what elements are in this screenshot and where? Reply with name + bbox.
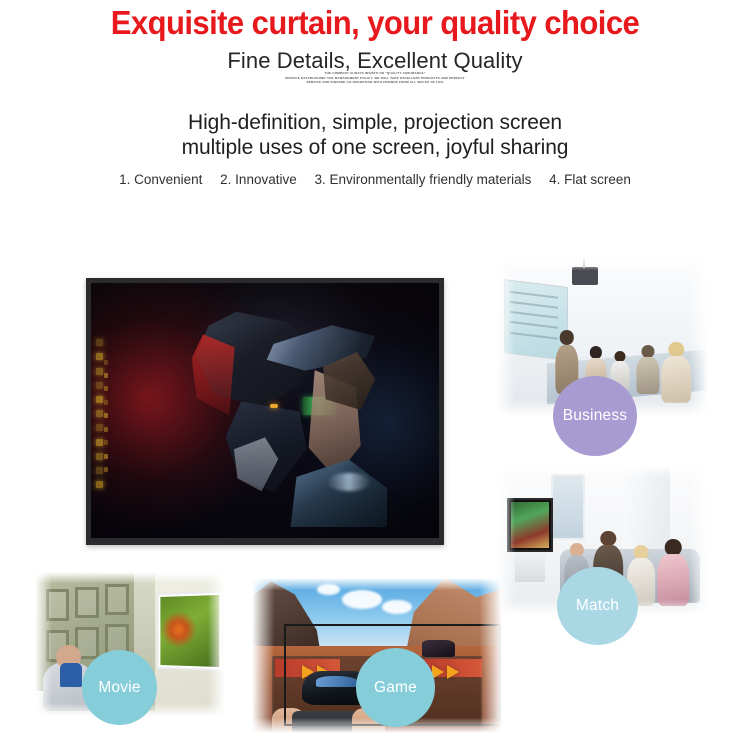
cyberpunk-helmet-image [91,283,439,538]
badge-match-label: Match [576,597,619,615]
badge-game-label: Game [374,679,417,697]
badge-business[interactable]: Business [553,376,637,456]
badge-business-label: Business [563,407,628,425]
company-statement-microtext: THE COMPANY ALWAYS INSISTS ON "QUALITY A… [0,71,750,85]
projection-screen [156,591,223,672]
badge-game[interactable]: Game [356,648,435,727]
feature-list: 1. Convenient 2. Innovative 3. Environme… [0,172,750,187]
feature-item-3: 3. Environmentally friendly materials [315,172,532,187]
description-line-2: multiple uses of one screen, joyful shar… [0,135,750,160]
television [507,498,554,552]
badge-movie[interactable]: Movie [82,650,157,725]
ceiling-projector-icon [572,267,597,284]
badge-match[interactable]: Match [557,567,638,645]
feature-item-4: 4. Flat screen [549,172,631,187]
page-headline: Exquisite curtain, your quality choice [23,4,728,42]
product-description: High-definition, simple, projection scre… [0,110,750,160]
product-detail-page: Exquisite curtain, your quality choice F… [0,0,750,750]
description-line-1: High-definition, simple, projection scre… [0,110,750,135]
main-screen-display [91,283,439,538]
main-projection-screen [86,278,444,545]
microtext-line-3: SERVICE AND SINCERE CO-OPERATION WITH FR… [0,80,750,85]
feature-item-1: 1. Convenient [119,172,202,187]
badge-movie-label: Movie [98,679,140,697]
feature-item-2: 2. Innovative [220,172,297,187]
